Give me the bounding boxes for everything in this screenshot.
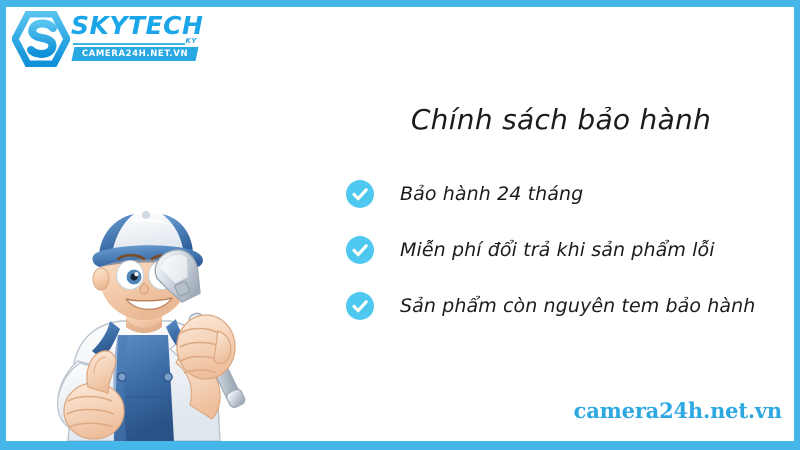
handyman-mascot-illustration <box>22 201 262 441</box>
logo-superscript: KY <box>186 37 198 45</box>
warranty-policy-banner: SKYTECH KY CAMERA24H.NET.VN Chính sách b… <box>0 0 800 450</box>
footer-website-url[interactable]: camera24h.net.vn <box>574 398 782 423</box>
logo-subtext-banner: CAMERA24H.NET.VN <box>72 47 199 61</box>
page-title: Chính sách bảo hành <box>336 103 786 136</box>
list-item-label: Miễn phí đổi trả khi sản phẩm lỗi <box>400 239 715 261</box>
list-item: Sản phẩm còn nguyên tem bảo hành <box>346 287 786 325</box>
check-circle-icon <box>346 236 374 264</box>
logo-subtext: CAMERA24H.NET.VN <box>73 47 197 61</box>
logo-divider-rule <box>73 43 185 45</box>
list-item-label: Sản phẩm còn nguyên tem bảo hành <box>400 295 755 317</box>
warranty-feature-list: Bảo hành 24 tháng Miễn phí đổi trả khi s… <box>346 175 786 343</box>
skytech-logo[interactable]: SKYTECH KY CAMERA24H.NET.VN <box>12 9 202 71</box>
list-item: Miễn phí đổi trả khi sản phẩm lỗi <box>346 231 786 269</box>
list-item-label: Bảo hành 24 tháng <box>400 183 583 205</box>
list-item: Bảo hành 24 tháng <box>346 175 786 213</box>
check-circle-icon <box>346 292 374 320</box>
check-circle-icon <box>346 180 374 208</box>
logo-wordmark: SKYTECH <box>71 13 199 38</box>
skytech-hexagon-s-logo-icon <box>12 11 70 67</box>
